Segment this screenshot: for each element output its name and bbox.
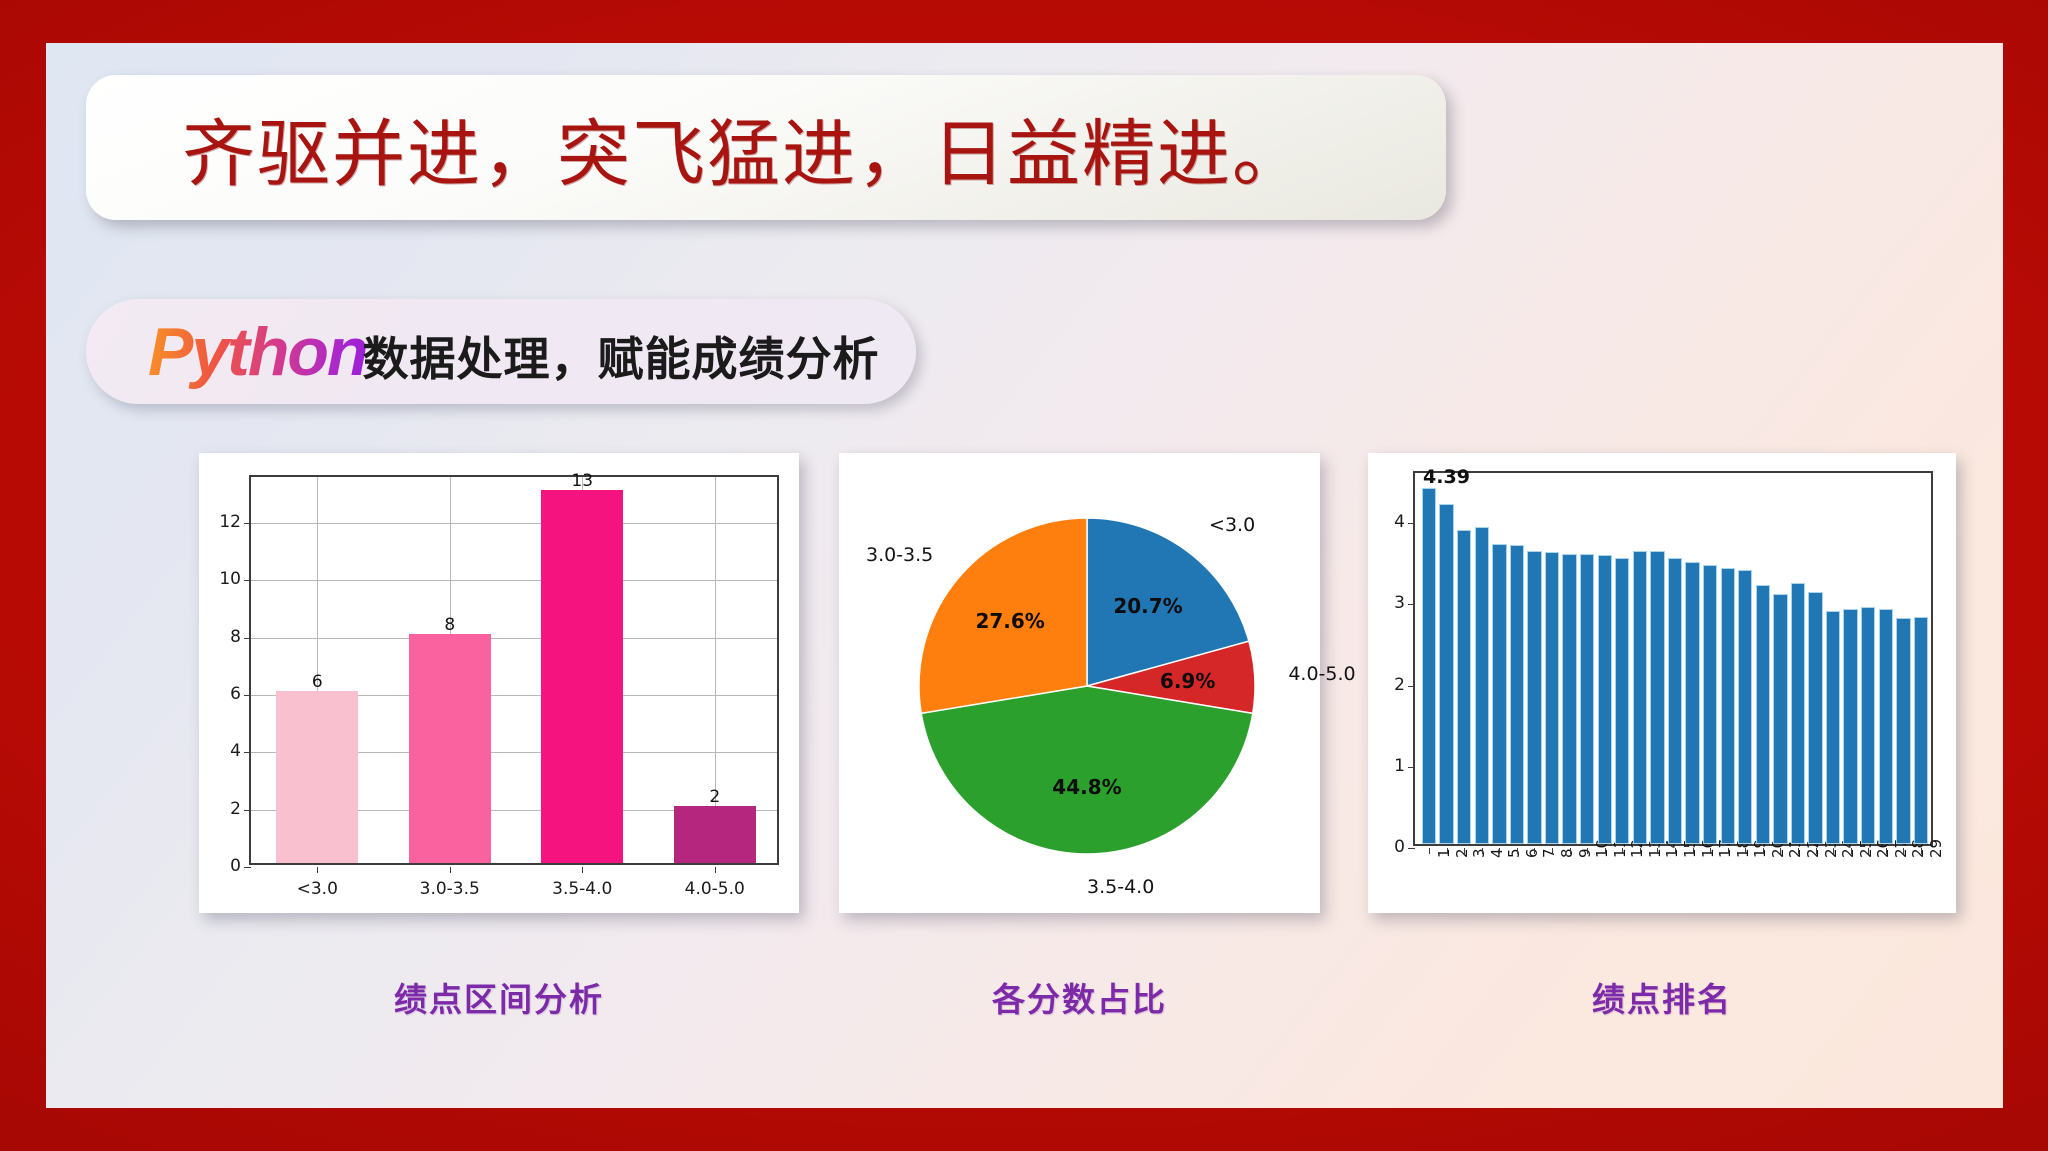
rank-chart-bar [1545,552,1559,844]
page-title: 齐驱并进，突飞猛进，日益精进。 [182,95,1307,201]
bar-chart-xtick-mark [317,867,318,873]
rank-chart-xtick-label: 4 [1488,848,1506,858]
pie-category-label: 3.5-4.0 [1087,876,1154,898]
bar-chart-value-label: 6 [312,672,323,692]
rank-chart-bar [1668,558,1682,844]
rank-chart-bar [1562,554,1576,844]
slide-frame: 齐驱并进，突飞猛进，日益精进。 Python 数据处理，赋能成绩分析 02468… [0,0,2048,1151]
pie-category-label: 3.0-3.5 [866,544,933,566]
chart-card-rank: 0123412345678910111213141516171819202122… [1368,453,1956,913]
rank-chart-ytick-label: 1 [1394,756,1405,776]
chart-card-pie: 20.7%6.9%44.8%27.6%<3.04.0-5.03.5-4.03.0… [839,453,1320,913]
pie-percent-label: 27.6% [975,609,1044,633]
rank-chart-xtick-mark [1570,848,1571,854]
bar-chart-ytick-label: 2 [230,799,241,819]
rank-chart-bar [1633,551,1647,844]
rank-chart-xtick-mark [1675,848,1676,854]
rank-chart-xtick-label: 6 [1523,848,1541,858]
rank-chart-bar [1914,617,1928,844]
rank-chart-xtick-mark [1429,848,1430,854]
rank-chart-bar [1510,545,1524,844]
bar-chart-ytick-mark [244,638,251,639]
bar-chart-value-label: 2 [709,787,720,807]
rank-chart-ytick-label: 3 [1394,593,1405,613]
bar-chart-ytick-mark [244,867,251,868]
subtitle-chinese-text: 数据处理，赋能成绩分析 [362,323,879,389]
rank-chart-xtick-mark [1710,848,1711,854]
rank-chart-xtick-label: 9 [1576,848,1594,858]
bar-chart-value-label: 8 [444,615,455,635]
rank-chart-bar [1598,555,1612,844]
bar-chart-gridline [251,580,777,581]
rank-chart-bar [1738,570,1752,844]
pie-chart-plot-area: 20.7%6.9%44.8%27.6%<3.04.0-5.03.5-4.03.0… [839,453,1320,913]
rank-chart-ytick-mark [1408,848,1415,849]
rank-chart-ytick-mark [1408,767,1415,768]
bar-chart-xtick-label: 4.0-5.0 [685,879,745,899]
pie-percent-label: 6.9% [1160,669,1215,693]
rank-chart-xtick-label: 8 [1558,848,1576,858]
rank-chart-xtick-mark [1921,848,1922,854]
pie-category-label: <3.0 [1209,514,1255,536]
pie-category-label: 4.0-5.0 [1288,663,1355,685]
rank-chart-plot-area: 0123412345678910111213141516171819202122… [1413,471,1933,846]
rank-chart-xtick-mark [1464,848,1465,854]
bar-chart-ytick-label: 10 [219,569,241,589]
rank-chart-xtick-mark [1534,848,1535,854]
bar-chart-bar [276,691,358,863]
chart-card-bar: 0246810126<3.083.0-3.5133.5-4.024.0-5.0 [199,453,799,913]
rank-chart-bar [1527,551,1541,844]
rank-chart-bar [1685,562,1699,844]
rank-chart-bar [1703,565,1717,844]
rank-chart-xtick-mark [1745,848,1746,854]
rank-chart-ytick-label: 4 [1394,512,1405,532]
rank-chart-xtick-mark [1833,848,1834,854]
rank-chart-xtick-mark [1780,848,1781,854]
bar-chart-bar [409,634,491,863]
rank-chart-xtick-mark [1499,848,1500,854]
bar-chart-bar [674,806,756,863]
rank-chart-bar [1439,504,1453,844]
bar-chart-value-label: 13 [571,471,593,491]
rank-chart-xtick-mark [1693,848,1694,854]
bar-chart-xtick-mark [450,867,451,873]
rank-chart-xtick-mark [1851,848,1852,854]
bar-chart-xtick-mark [582,867,583,873]
bar-chart-ytick-label: 12 [219,512,241,532]
pie-percent-label: 44.8% [1052,775,1121,799]
rank-chart-bar [1615,558,1629,844]
bar-chart-xtick-label: 3.0-3.5 [420,879,480,899]
rank-chart-xtick-label: 29 [1927,839,1945,858]
rank-chart-xtick-mark [1886,848,1887,854]
rank-chart-bar [1843,609,1857,844]
caption-pie-chart: 各分数占比 [839,973,1320,1021]
rank-chart-bar [1650,551,1664,844]
rank-chart-ytick-mark [1408,523,1415,524]
rank-chart-bar [1580,554,1594,844]
rank-chart-bar [1721,568,1735,844]
rank-chart-bar [1896,618,1910,844]
rank-chart-bar [1861,607,1875,844]
rank-chart-xtick-label: 5 [1505,848,1523,858]
rank-chart-xtick-mark [1587,848,1588,854]
bar-chart-bar [541,490,623,863]
subtitle-inner: Python 数据处理，赋能成绩分析 [148,313,879,391]
rank-chart-xtick-mark [1657,848,1658,854]
rank-chart-bar [1808,592,1822,844]
bar-chart-gridline [251,638,777,639]
subtitle-python-word: Python [148,313,366,391]
caption-rank-chart: 绩点排名 [1368,973,1956,1021]
pie-slice [921,686,1253,854]
rank-chart-xtick-mark [1482,848,1483,854]
rank-chart-xtick-mark [1517,848,1518,854]
bar-chart-ytick-mark [244,695,251,696]
bar-chart-xtick-label: <3.0 [297,879,338,899]
rank-chart-xtick-mark [1552,848,1553,854]
rank-chart-bar [1879,609,1893,844]
rank-chart-bar [1492,544,1506,844]
bar-chart-ytick-mark [244,580,251,581]
bar-chart-ytick-label: 6 [230,684,241,704]
rank-chart-ytick-mark [1408,686,1415,687]
bar-chart-xtick-mark [715,867,716,873]
caption-bar-chart: 绩点区间分析 [199,973,799,1021]
title-card: 齐驱并进，突飞猛进，日益精进。 [86,75,1446,220]
bar-chart-ytick-label: 4 [230,741,241,761]
rank-chart-peak-label: 4.39 [1423,466,1470,488]
pie-percent-label: 20.7% [1113,594,1182,618]
rank-chart-ytick-label: 2 [1394,675,1405,695]
rank-chart-xtick-mark [1868,848,1869,854]
rank-chart-ytick-label: 0 [1394,837,1405,857]
bar-chart-plot-area: 0246810126<3.083.0-3.5133.5-4.024.0-5.0 [249,475,779,865]
rank-chart-xtick-label: 3 [1470,848,1488,858]
rank-chart-bar [1773,594,1787,844]
rank-chart-xtick-mark [1798,848,1799,854]
rank-chart-xtick-mark [1763,848,1764,854]
bar-chart-ytick-mark [244,752,251,753]
bar-chart-ytick-mark [244,523,251,524]
rank-chart-xtick-mark [1622,848,1623,854]
bar-chart-ytick-mark [244,810,251,811]
subtitle-pill: Python 数据处理，赋能成绩分析 [86,299,916,404]
rank-chart-xtick-label: 2 [1453,848,1471,858]
rank-chart-bar [1756,585,1770,844]
rank-chart-bar [1457,530,1471,844]
rank-chart-xtick-label: 7 [1540,848,1558,858]
rank-chart-bar [1791,583,1805,844]
bar-chart-xtick-label: 3.5-4.0 [552,879,612,899]
bar-chart-ytick-label: 0 [230,856,241,876]
rank-chart-xtick-mark [1728,848,1729,854]
rank-chart-xtick-label: 1 [1435,848,1453,858]
bar-chart-ytick-label: 8 [230,627,241,647]
bar-chart-gridline [251,523,777,524]
rank-chart-xtick-mark [1605,848,1606,854]
rank-chart-bar [1422,488,1436,844]
rank-chart-xtick-mark [1447,848,1448,854]
rank-chart-ytick-mark [1408,604,1415,605]
rank-chart-xtick-mark [1903,848,1904,854]
slide-canvas: 齐驱并进，突飞猛进，日益精进。 Python 数据处理，赋能成绩分析 02468… [46,43,2003,1108]
rank-chart-bar [1475,527,1489,844]
rank-chart-xtick-mark [1816,848,1817,854]
rank-chart-xtick-mark [1640,848,1641,854]
rank-chart-bar [1826,611,1840,844]
